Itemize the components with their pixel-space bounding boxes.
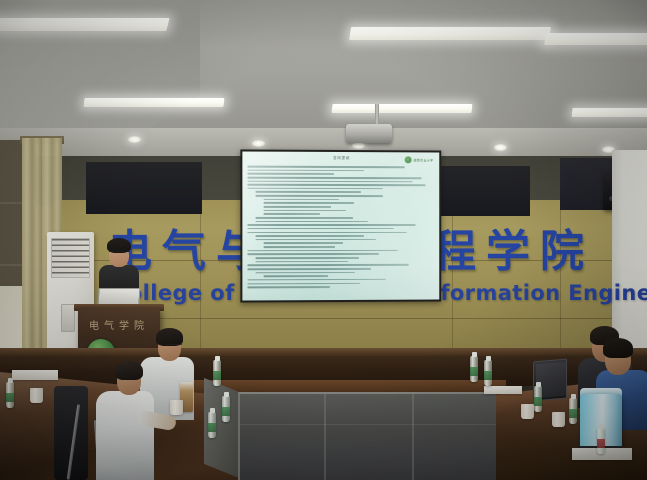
window-mullion [0, 264, 24, 266]
conference-room-photo: 电气与信息工程学院 College of Electrical and Info… [0, 0, 647, 480]
presenter-laptop [98, 288, 141, 305]
documents-stack [484, 386, 522, 394]
bottle-label [213, 371, 221, 380]
attendee-left-front-person [96, 355, 158, 480]
bottle-label [484, 371, 492, 380]
paper-cup [170, 400, 183, 415]
bottle-cap-icon [472, 352, 477, 357]
bottle-label [470, 367, 478, 376]
slide-university-logo: 湖南农业大学 [405, 156, 433, 163]
attendee-hair [603, 338, 633, 358]
ceiling-led-panel [572, 108, 647, 117]
glasses-icon [109, 251, 129, 255]
documents-stack [12, 370, 58, 380]
bottle-cap-icon [571, 394, 576, 399]
paper-cup [521, 404, 534, 419]
water-bottle [213, 360, 221, 386]
bottle-cap-icon [215, 356, 220, 361]
bottle-label [6, 393, 14, 402]
slide-logo-text: 湖南农业大学 [413, 158, 433, 162]
bottle-cap-icon [536, 382, 541, 387]
wall-panel-left [86, 162, 202, 214]
glasses-icon [166, 344, 182, 348]
ac-vent-grille-icon [51, 238, 90, 278]
ceiling [0, 0, 647, 158]
water-bottle [222, 396, 230, 422]
bottle-label [534, 397, 542, 406]
ceiling-led-panel [332, 104, 473, 113]
ceiling-led-panel [84, 98, 225, 107]
bottle-cap-icon [224, 392, 229, 397]
bottle-label [222, 407, 230, 416]
bottle-label [597, 439, 605, 448]
water-bottle [6, 382, 14, 408]
projector-mount-rod [375, 104, 379, 126]
ceiling-downlight [252, 140, 265, 147]
ceiling-projector [346, 124, 392, 143]
ceiling-downlight [352, 142, 365, 149]
ceiling-led-panel [349, 27, 551, 40]
projection-screen: 答辩提纲 湖南农业大学 [240, 149, 441, 302]
attendee-hair [115, 361, 143, 380]
slide-text-body [247, 166, 434, 297]
attendee-torso [96, 391, 154, 480]
ceiling-downlight [494, 144, 507, 151]
bottle-cap-icon [599, 424, 604, 429]
paper-cup [552, 412, 565, 427]
ceiling-led-panel [544, 33, 647, 45]
bottle-cap-icon [486, 356, 491, 361]
table-center-well [238, 392, 496, 480]
water-bottle [484, 360, 492, 386]
ceiling-led-panel [0, 18, 170, 31]
university-logo-icon [405, 156, 412, 163]
water-bottle [597, 428, 605, 454]
water-bottle [470, 356, 478, 382]
paper-cup [30, 388, 43, 403]
bottle-label [208, 423, 216, 432]
ceiling-downlight [128, 136, 141, 143]
bottle-label [569, 409, 577, 418]
ac-control-panel [61, 304, 75, 332]
water-bottle [534, 386, 542, 412]
water-bottle [569, 398, 577, 424]
projection-screen-surface: 答辩提纲 湖南农业大学 [242, 151, 439, 300]
window-mullion [0, 202, 24, 204]
bottle-cap-icon [210, 408, 215, 413]
water-bottle [208, 412, 216, 438]
